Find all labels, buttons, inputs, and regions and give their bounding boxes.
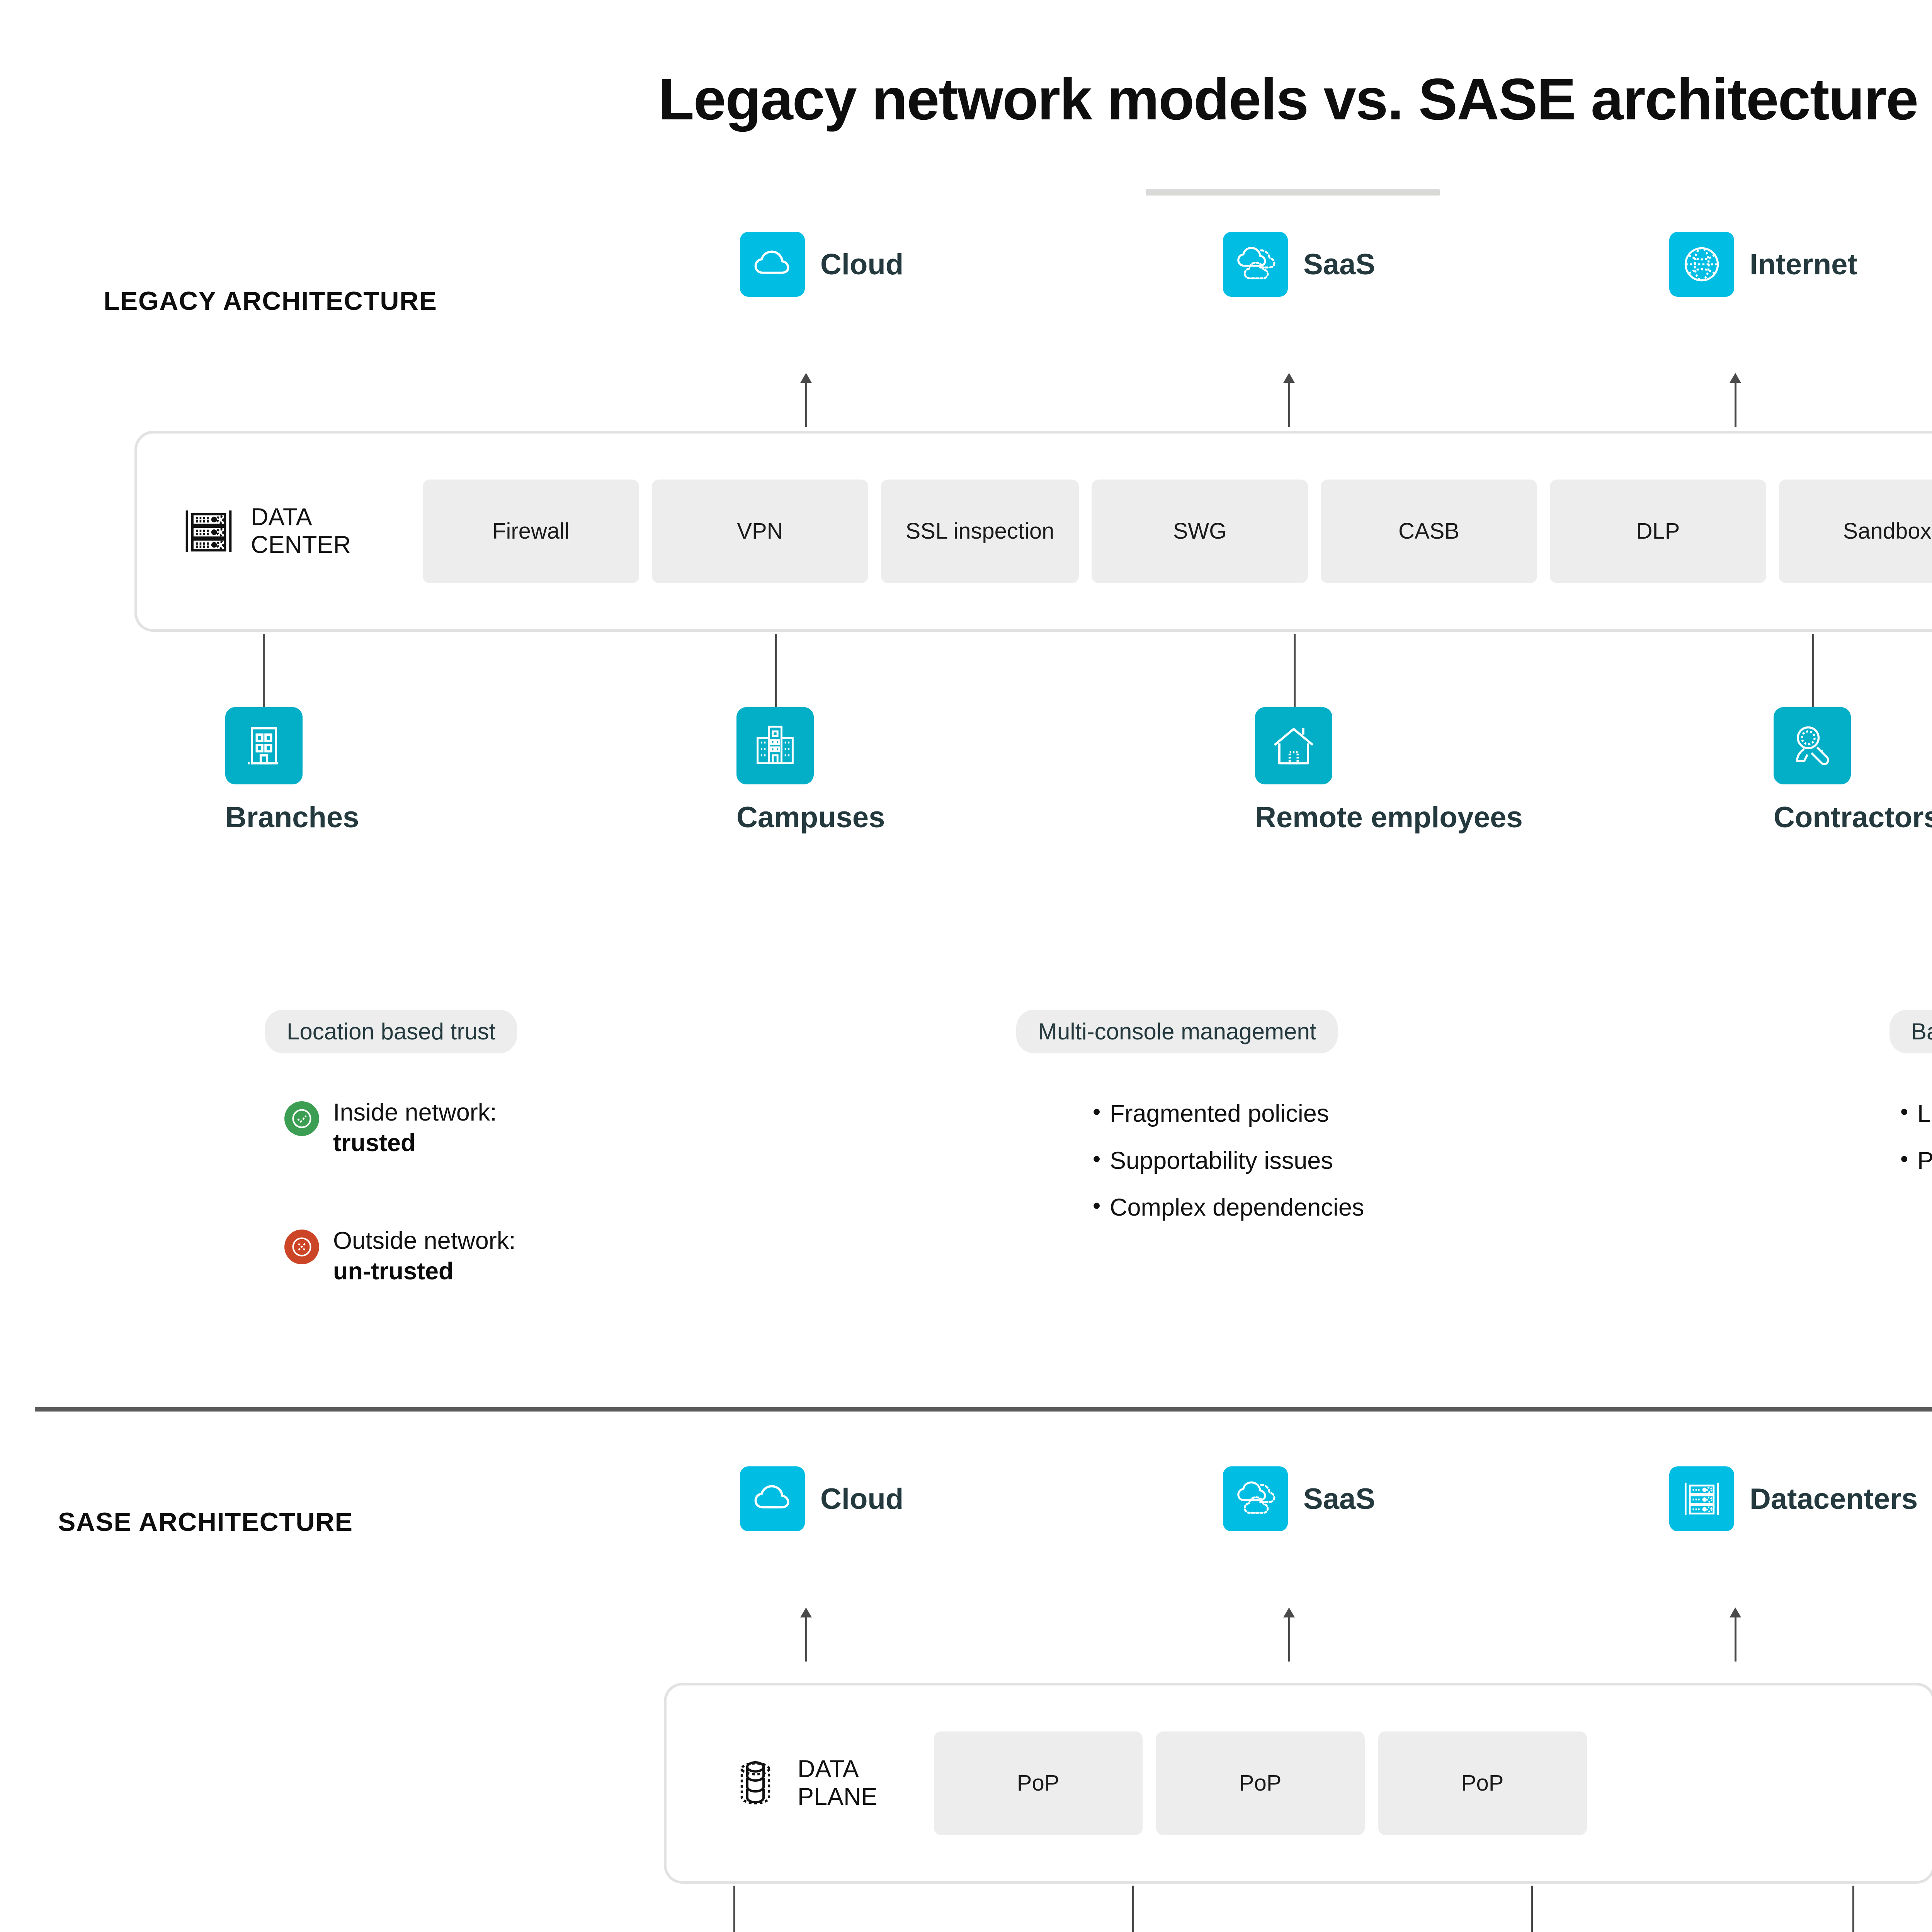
service-chip[interactable]: CASB <box>1321 480 1537 583</box>
service-chip[interactable]: SWG <box>1092 480 1308 583</box>
legacy-bullets-backhaul: Limited scalability Poor user experience <box>1897 1099 1932 1193</box>
page-title: Legacy network models vs. SASE architect… <box>0 66 1932 133</box>
legacy-pill-backhaul: Backhaul traffic <box>1889 1010 1932 1053</box>
legacy-trust-text: Inside network: trusted <box>333 1097 497 1159</box>
legacy-destination-cloud[interactable]: Cloud <box>740 232 903 297</box>
house-icon <box>1255 707 1332 784</box>
office-building-icon <box>225 707 303 784</box>
wrench-gear-icon <box>1774 707 1851 784</box>
legacy-destination-label: Cloud <box>820 248 903 281</box>
database-cylinder-icon <box>726 1754 784 1812</box>
diagram-canvas: Legacy network models vs. SASE architect… <box>0 0 1932 1932</box>
pop-chip[interactable]: PoP <box>1378 1731 1587 1835</box>
legacy-section-label: LEGACY ARCHITECTURE <box>104 286 437 316</box>
legacy-bullets-multi-console: Fragmented policies Supportability issue… <box>1090 1099 1364 1240</box>
sase-destination-datacenters[interactable]: Datacenters <box>1669 1466 1918 1531</box>
legacy-destination-label: SaaS <box>1303 248 1375 281</box>
legacy-pill-location-trust: Location based trust <box>265 1010 517 1053</box>
globe-icon <box>1669 232 1734 297</box>
trust-line1: Inside network: <box>333 1099 497 1126</box>
list-item: Poor user experience <box>1897 1146 1932 1176</box>
endpoint-label: Contractors <box>1774 801 1851 834</box>
data-plane-title-line2: PLANE <box>798 1783 878 1810</box>
arrow-to-cloud-icon <box>804 373 808 427</box>
sase-section-label: SASE ARCHITECTURE <box>58 1507 353 1537</box>
trust-line1: Outside network: <box>333 1227 516 1254</box>
data-center-title: DATA CENTER <box>251 503 351 559</box>
endpoint-contractors[interactable]: Contractors <box>1774 707 1851 834</box>
connector-line <box>775 634 777 707</box>
data-plane-title: DATA PLANE <box>798 1755 878 1811</box>
arrow-to-cloud-icon <box>804 1607 808 1662</box>
endpoint-label: Campuses <box>736 801 814 834</box>
legacy-core-container: DATA CENTER Firewall VPN SSL inspection … <box>134 431 1932 632</box>
service-chip[interactable]: Sandbox <box>1779 480 1932 583</box>
campus-buildings-icon <box>736 707 814 784</box>
endpoint-branches[interactable]: Branches <box>225 707 303 834</box>
endpoint-label: Branches <box>225 801 303 834</box>
endpoint-remote-employees[interactable]: Remote employees <box>1255 707 1332 834</box>
connector-line <box>1812 634 1814 707</box>
title-divider-rule <box>1146 189 1440 196</box>
sase-pop-chips: PoP PoP PoP <box>934 1731 1587 1835</box>
connector-line <box>1294 634 1296 707</box>
connector-line <box>1852 1886 1854 1932</box>
legacy-trust-item-outside: Outside network: un-trusted <box>284 1226 748 1287</box>
legacy-service-chips: Firewall VPN SSL inspection SWG CASB DLP… <box>423 480 1932 583</box>
legacy-pill-multi-console: Multi-console management <box>1016 1010 1338 1053</box>
service-chip[interactable]: SSL inspection <box>881 480 1079 583</box>
arrow-to-saas-icon <box>1287 373 1291 427</box>
sase-destination-label: Cloud <box>820 1482 903 1516</box>
data-center-cluster: DATA CENTER <box>180 502 351 560</box>
data-plane-cluster: DATA PLANE <box>726 1754 878 1812</box>
legacy-trust-text: Outside network: un-trusted <box>333 1226 516 1287</box>
data-plane-title-line1: DATA <box>798 1755 859 1782</box>
endpoint-campuses[interactable]: Campuses <box>736 707 814 834</box>
connector-line <box>1531 1886 1533 1932</box>
service-chip[interactable]: VPN <box>652 480 868 583</box>
section-divider <box>35 1407 1932 1412</box>
legacy-trust-item-inside: Inside network: trusted <box>284 1097 748 1159</box>
check-circle-icon <box>284 1101 319 1136</box>
trust-line2: un-trusted <box>333 1258 453 1285</box>
cross-circle-icon <box>284 1230 319 1264</box>
saas-clouds-icon <box>1223 1466 1288 1531</box>
endpoint-label: Remote employees <box>1255 801 1332 834</box>
list-item: Supportability issues <box>1090 1146 1364 1176</box>
connector-line <box>1132 1886 1134 1932</box>
connector-line <box>733 1886 735 1932</box>
sase-core-container: DATA PLANE PoP PoP PoP <box>664 1683 1932 1884</box>
arrow-to-saas-icon <box>1287 1607 1291 1662</box>
service-chip[interactable]: DLP <box>1550 480 1766 583</box>
list-item: Limited scalability <box>1897 1099 1932 1129</box>
sase-destination-cloud[interactable]: Cloud <box>740 1466 903 1531</box>
sase-destination-label: SaaS <box>1303 1482 1375 1516</box>
arrow-to-internet-icon <box>1733 373 1737 427</box>
legacy-destination-saas[interactable]: SaaS <box>1223 232 1375 297</box>
pop-chip[interactable]: PoP <box>934 1731 1143 1835</box>
data-center-title-line1: DATA <box>251 503 312 531</box>
legacy-destination-internet[interactable]: Internet <box>1669 232 1857 297</box>
sase-destination-label: Datacenters <box>1750 1482 1918 1516</box>
list-item: Fragmented policies <box>1090 1099 1364 1129</box>
server-rack-icon <box>1669 1466 1734 1531</box>
connector-line <box>263 634 265 707</box>
legacy-destination-label: Internet <box>1750 248 1857 281</box>
arrow-to-datacenters-icon <box>1733 1607 1737 1662</box>
cloud-icon <box>740 232 805 297</box>
list-item: Complex dependencies <box>1090 1193 1364 1223</box>
sase-destination-saas[interactable]: SaaS <box>1223 1466 1375 1531</box>
cloud-icon <box>740 1466 805 1531</box>
server-rack-icon <box>180 502 238 560</box>
data-center-title-line2: CENTER <box>251 531 351 558</box>
service-chip[interactable]: Firewall <box>423 480 639 583</box>
pop-chip[interactable]: PoP <box>1156 1731 1365 1835</box>
trust-line2: trusted <box>333 1129 416 1156</box>
saas-clouds-icon <box>1223 232 1288 297</box>
